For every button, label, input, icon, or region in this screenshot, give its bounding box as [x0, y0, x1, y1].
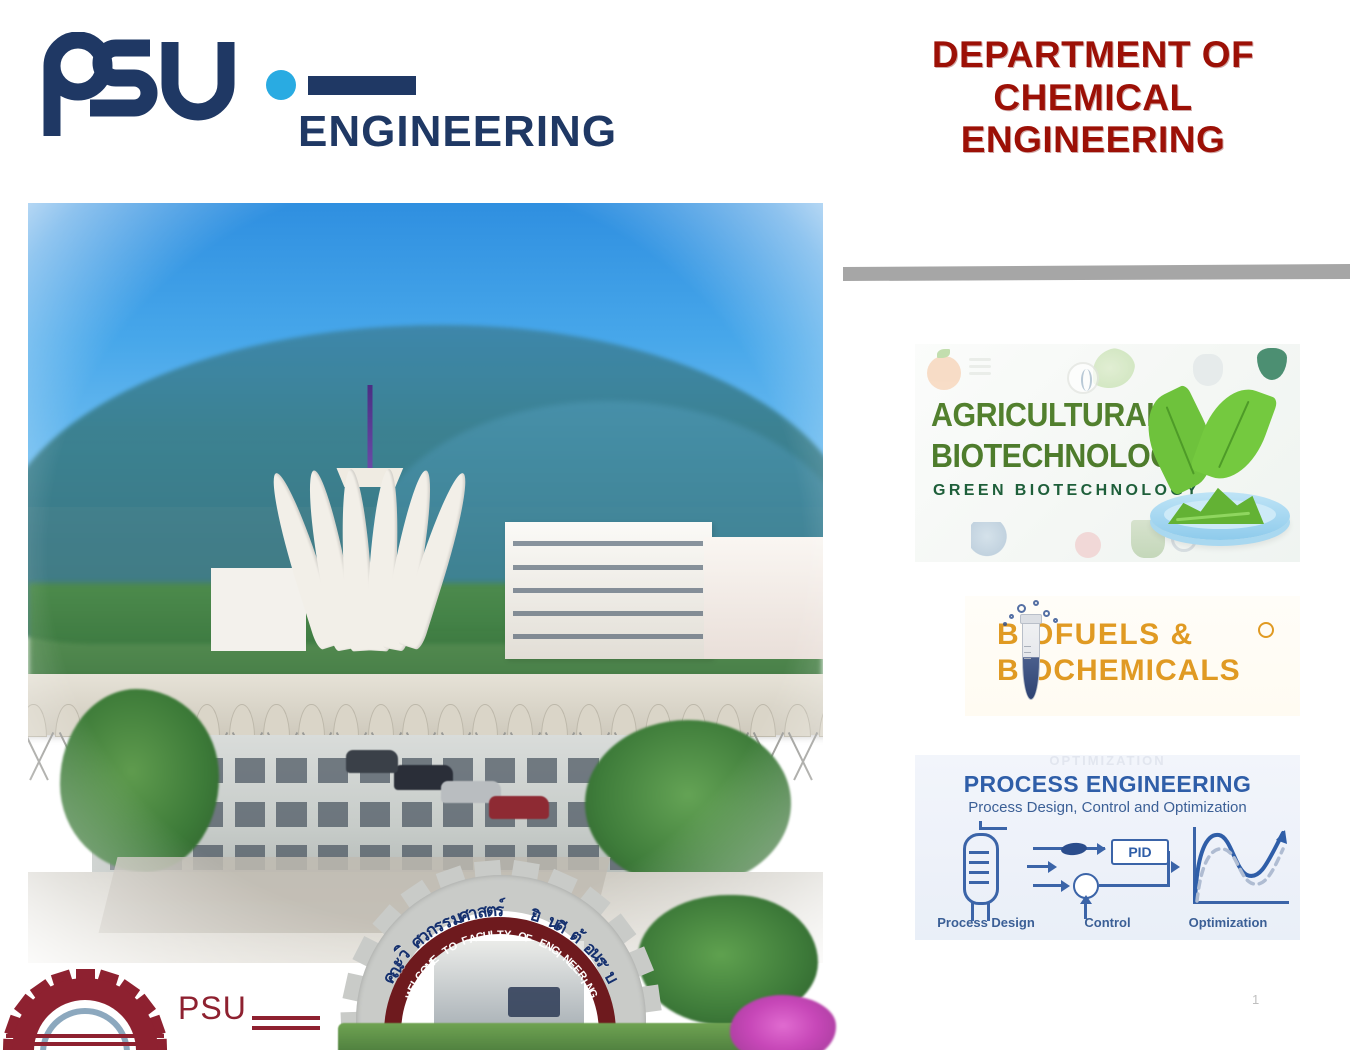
process-caption-control: Control — [1055, 915, 1160, 930]
title-line-1: DEPARTMENT OF — [848, 34, 1338, 77]
page-number: 1 — [1252, 992, 1259, 1007]
title-line-3: ENGINEERING — [848, 119, 1338, 162]
berry-icon — [1075, 532, 1101, 558]
cog-icon — [12, 978, 158, 1050]
footer-bar-left-1 — [6, 1034, 164, 1038]
tree-left — [60, 689, 219, 871]
leaf-right-icon — [1189, 379, 1278, 490]
footer-bar-left-2 — [6, 1042, 164, 1046]
process-caption-design: Process Design — [921, 915, 1051, 930]
logo-bar-icon — [308, 76, 416, 95]
welcome-gate-sign: คณะวิศวกรรมศาสตร์ ยินดีต้อนรับ WELCOME T… — [338, 875, 838, 1050]
logo-engineering-text: ENGINEERING — [298, 110, 617, 154]
process-subtitle: Process Design, Control and Optimization — [915, 799, 1300, 816]
slide: ENGINEERING DEPARTMENT OF CHEMICAL ENGIN… — [0, 0, 1350, 1050]
tree-right — [585, 720, 792, 887]
title-line-2: CHEMICAL — [848, 77, 1338, 120]
optimization-curve-icon — [1191, 821, 1295, 905]
campus-photo-image — [28, 203, 823, 963]
footer-psu-logo: PSU — [6, 972, 316, 1048]
psu-wordmark-icon — [30, 32, 262, 140]
microscope-icon — [971, 522, 1011, 558]
logo-dot-icon — [266, 70, 296, 100]
building-far-right — [704, 537, 823, 659]
footer-logo-text: PSU — [178, 990, 247, 1027]
ring-icon — [1258, 622, 1274, 638]
process-ghost-text: OPTIMIZATION — [915, 755, 1300, 768]
panel-biofuels-biochemicals[interactable]: B OFUELS & B OCHEMICALS — [965, 596, 1300, 716]
tower-spire — [367, 385, 372, 473]
corn-icon — [1093, 348, 1135, 388]
lotus-tower-building — [290, 469, 449, 651]
panel-agricultural-biotechnology[interactable]: AGRICULTURAL BIOTECHNOLOGY GREEN BIOTECH… — [915, 344, 1300, 562]
psu-engineering-logo: ENGINEERING — [30, 32, 630, 147]
test-tube-icon — [1020, 612, 1042, 700]
vessel-inlet-pipe — [979, 827, 1007, 830]
title-divider — [843, 264, 1350, 281]
sprout-graphic — [1142, 382, 1292, 542]
campus-photo: คณะวิศวกรรมศาสตร์ ยินดีต้อนรับ WELCOME T… — [8, 185, 838, 975]
dna-icon — [1067, 362, 1099, 394]
building-right — [505, 522, 712, 659]
leaf-shield-icon — [1257, 348, 1287, 380]
fruit-icon — [927, 356, 961, 390]
panel-process-engineering[interactable]: OPTIMIZATION PROCESS ENGINEERING Process… — [915, 755, 1300, 940]
page-title: DEPARTMENT OF CHEMICAL ENGINEERING — [848, 34, 1338, 162]
lines-icon — [969, 358, 991, 380]
valve-icon — [1060, 842, 1087, 857]
agri-title-line-1: AGRICULTURAL — [931, 396, 1164, 434]
footer-bar-right-2 — [252, 1026, 320, 1030]
footer-bar-right-1 — [252, 1016, 320, 1020]
process-title: PROCESS ENGINEERING — [915, 771, 1300, 798]
process-caption-optimization: Optimization — [1163, 915, 1293, 930]
pid-controller-block: PID — [1111, 839, 1169, 865]
gate-welcome-text: WELCOME TO FACULTY OF ENGINEERING — [384, 919, 616, 1039]
vessel-icon — [963, 833, 999, 905]
